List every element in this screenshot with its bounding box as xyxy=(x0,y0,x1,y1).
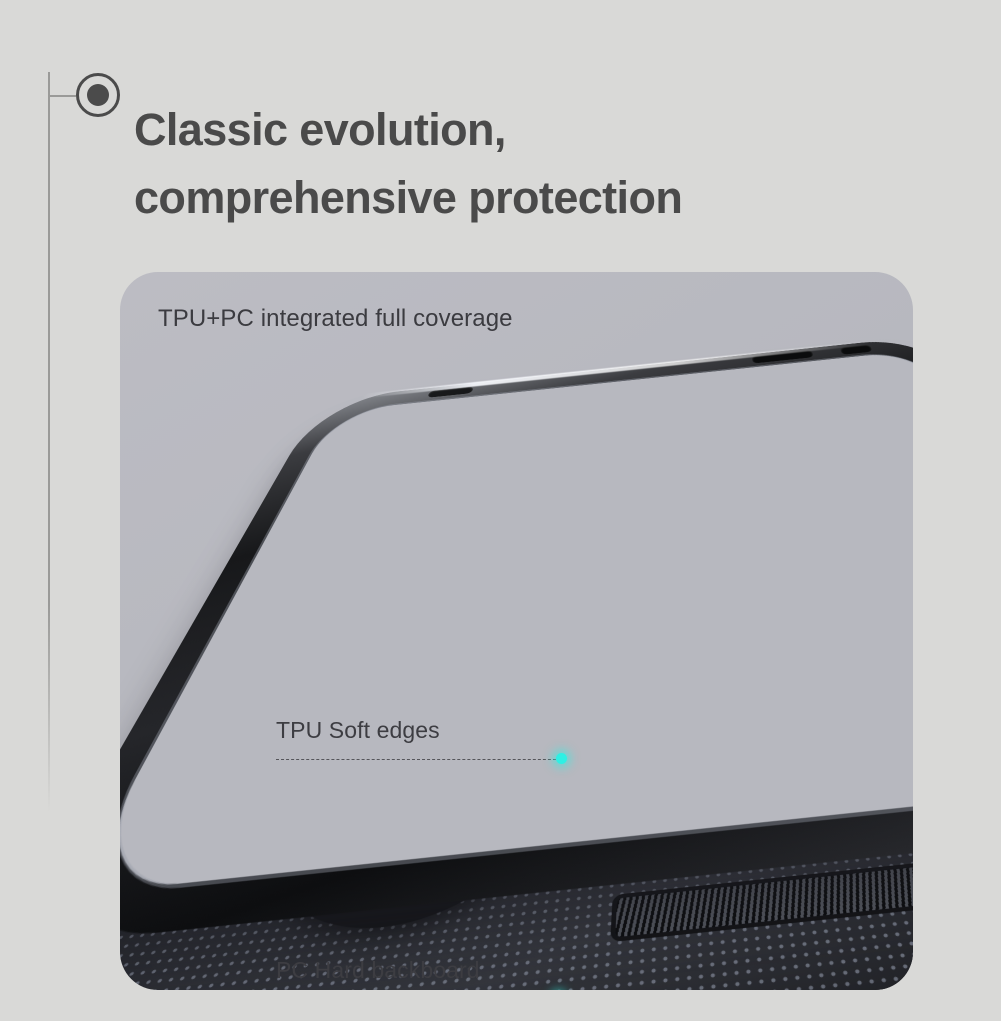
callout-label: PC Hard backboard xyxy=(276,957,480,984)
feature-card: TPU+PC integrated full coverage xyxy=(120,272,913,990)
page-title-line-2: comprehensive protection xyxy=(134,164,934,232)
product-artwork xyxy=(120,272,913,990)
left-rail-line xyxy=(48,72,50,812)
card-title: TPU+PC integrated full coverage xyxy=(158,305,513,333)
target-dot-icon xyxy=(76,73,120,117)
left-rail-tick xyxy=(50,95,76,97)
callout-marker-dot xyxy=(556,753,567,764)
callout-dashed-line xyxy=(276,759,561,760)
page-title-line-1: Classic evolution, xyxy=(134,96,934,164)
bumper-inner-edge xyxy=(120,348,913,900)
page-title: Classic evolution, comprehensive protect… xyxy=(134,96,934,232)
callout-label: TPU Soft edges xyxy=(276,717,440,744)
tpu-bumper-frame xyxy=(120,335,913,949)
